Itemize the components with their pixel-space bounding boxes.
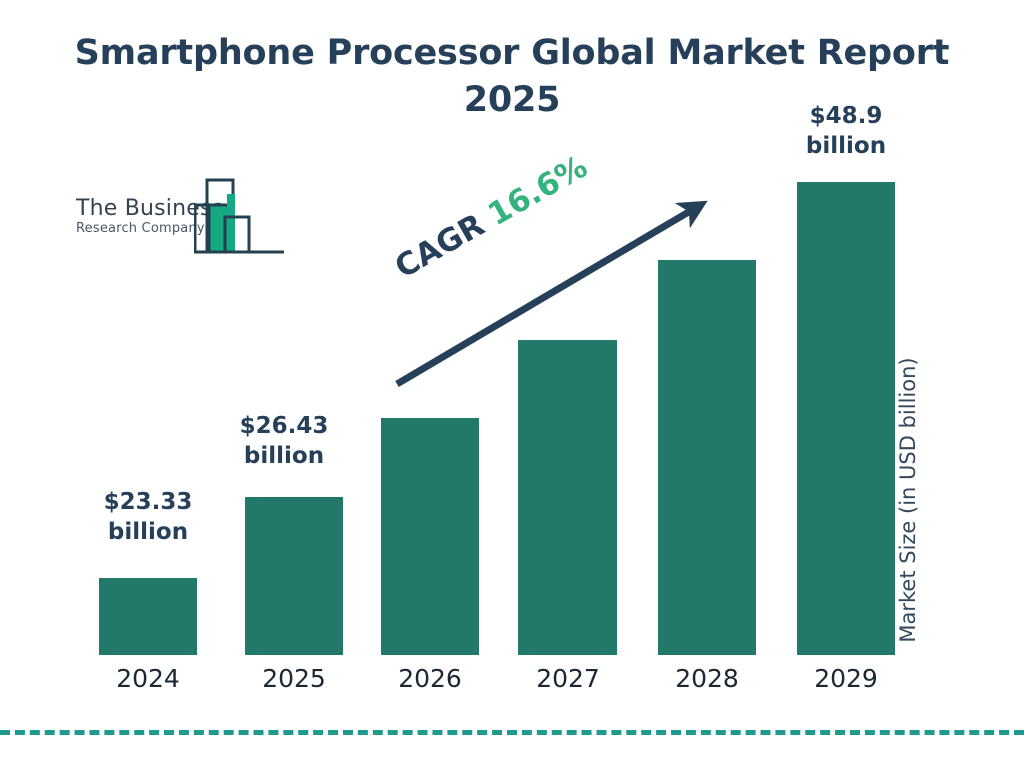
x-tick-2029: 2029 — [781, 663, 911, 695]
company-logo: The Business Research Company — [76, 176, 286, 254]
cagr-label: CAGR — [389, 207, 490, 286]
value-label-2029: $48.9 billion — [781, 101, 911, 161]
value-label-2025-unit: billion — [219, 441, 349, 471]
value-label-2029-unit: billion — [781, 131, 911, 161]
x-tick-2024: 2024 — [83, 663, 213, 695]
cagr-annotation: CAGR 16.6% — [390, 150, 593, 285]
footer-divider — [0, 730, 1024, 735]
chart-canvas: Smartphone Processor Global Market Repor… — [0, 0, 1024, 768]
cagr-value: 16.6% — [482, 149, 593, 233]
x-tick-2028: 2028 — [642, 663, 772, 695]
bar-2026 — [381, 418, 479, 655]
x-tick-2026: 2026 — [365, 663, 495, 695]
value-label-2029-amount: $48.9 — [781, 101, 911, 131]
bar-2027 — [518, 340, 617, 655]
value-label-2024-amount: $23.33 — [83, 487, 213, 517]
x-tick-2025: 2025 — [229, 663, 359, 695]
y-axis-title: Market Size (in USD billion) — [896, 330, 920, 670]
bar-2024 — [99, 578, 197, 655]
bar-2025 — [245, 497, 343, 655]
x-tick-2027: 2027 — [503, 663, 633, 695]
value-label-2025: $26.43 billion — [219, 411, 349, 471]
value-label-2024: $23.33 billion — [83, 487, 213, 547]
bar-2028 — [658, 260, 756, 655]
value-label-2025-amount: $26.43 — [219, 411, 349, 441]
value-label-2024-unit: billion — [83, 517, 213, 547]
bar-chart-logo-mark-icon — [194, 176, 286, 258]
bar-2029 — [797, 182, 895, 655]
